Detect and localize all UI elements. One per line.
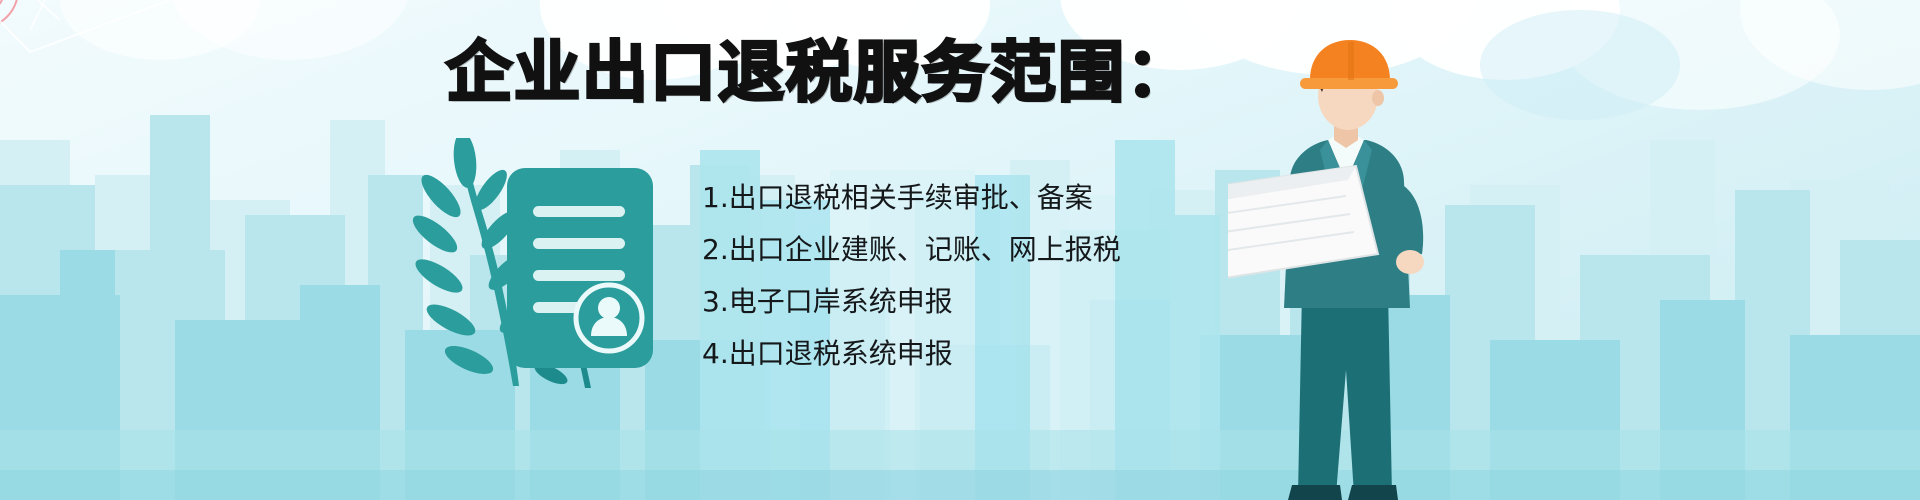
service-scope-list: 1.出口退税相关手续审批、备案 2.出口企业建账、记账、网上报税 3.电子口岸系…	[702, 172, 1342, 380]
banner-root: 企业出口退税服务范围： 1.出口退税相关手续审批、备案 2.出口企业建账、记账、…	[0, 0, 1920, 500]
document-certificate-icon	[505, 168, 655, 368]
list-item: 3.电子口岸系统申报	[702, 276, 1342, 328]
list-item: 1.出口退税相关手续审批、备案	[702, 172, 1342, 224]
page-title: 企业出口退税服务范围：	[446, 40, 1194, 106]
list-item: 2.出口企业建账、记账、网上报税	[702, 224, 1342, 276]
list-item: 4.出口退税系统申报	[702, 328, 1342, 380]
